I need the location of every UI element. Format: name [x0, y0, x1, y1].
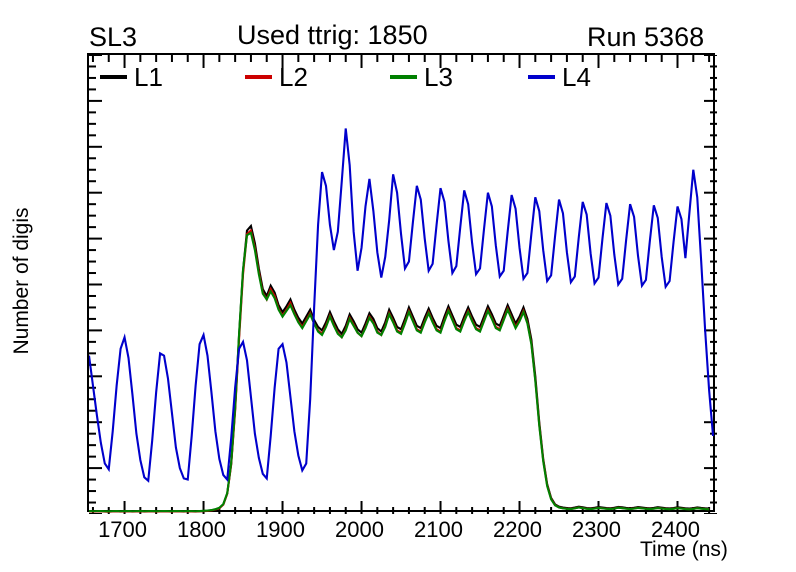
- legend-item-l4[interactable]: L4: [528, 60, 591, 94]
- x-tick-label: 2000: [320, 519, 400, 541]
- legend-item-l3[interactable]: L3: [390, 60, 453, 94]
- legend-swatch-l1-icon: [100, 75, 127, 79]
- x-tick-label: 2200: [478, 519, 558, 541]
- y-axis-title: Number of digis: [10, 181, 34, 381]
- legend-label: L3: [424, 64, 453, 90]
- legend-label: L1: [134, 64, 163, 90]
- legend-label: L2: [279, 64, 308, 90]
- x-tick-label: 2300: [557, 519, 637, 541]
- legend-item-l1[interactable]: L1: [100, 60, 163, 94]
- y-axis-title-wrap: Number of digis: [0, 0, 1, 1]
- legend-item-l2[interactable]: L2: [245, 60, 308, 94]
- chart-legend: L1L2L3L4: [100, 60, 660, 94]
- x-tick-label: 1700: [83, 519, 163, 541]
- plot-frame: [87, 53, 715, 512]
- x-axis-title: Time (ns): [640, 538, 728, 562]
- x-tick-label: 1900: [241, 519, 321, 541]
- x-tick-label: 2100: [399, 519, 479, 541]
- legend-label: L4: [562, 64, 591, 90]
- plot-area: [89, 55, 717, 514]
- legend-swatch-l2-icon: [245, 75, 272, 79]
- axis-ticks: [89, 55, 717, 514]
- chart-canvas: SL3 Used ttrig: 1850 Run 5368 0200040006…: [0, 0, 796, 572]
- series-line-l4: [89, 128, 713, 480]
- x-tick-label: 1800: [162, 519, 242, 541]
- legend-swatch-l4-icon: [528, 75, 555, 79]
- legend-swatch-l3-icon: [390, 75, 417, 79]
